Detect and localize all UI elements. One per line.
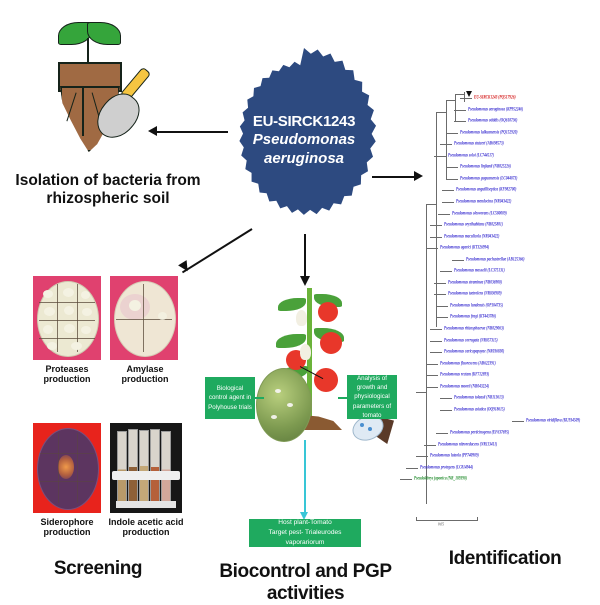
tree-tip-label: Pseudomonas linjianii (NR825226) — [460, 164, 511, 169]
tree-tip-label: Pseudomonas corrugata (NR057315) — [444, 337, 498, 342]
pest-magnifier-inset — [256, 368, 312, 442]
tree-terminal-branch — [442, 190, 454, 191]
hub-species: aeruginosa — [264, 150, 344, 168]
tree-terminal-branch — [434, 156, 446, 157]
tree-tip-label: Pseudomonas mosselii (LC375131) — [454, 268, 505, 273]
tree-tip-label: Pseudomonas fluorescens (AB622391) — [440, 360, 496, 365]
tree-terminal-branch — [440, 144, 452, 145]
target-pest-text: Target pest- Trialeurodes vaporariorum — [251, 528, 359, 548]
biocontrol-right-box: Analysis of growth and physiological par… — [347, 375, 397, 419]
amylase-label: Amylase production — [104, 364, 186, 384]
tree-terminal-branch — [430, 352, 442, 353]
tree-terminal-branch — [454, 121, 466, 122]
tree-tip-label: Pseudomonas rectam (KF712893) — [440, 371, 489, 376]
tree-tip-label: Pseudomonas protegens (LC814944) — [420, 464, 473, 469]
tomato-fruit — [318, 302, 338, 322]
tomato-flower — [300, 344, 311, 360]
tree-terminal-branch — [434, 294, 446, 295]
sample-dot — [368, 427, 372, 431]
tree-node-branch — [455, 94, 456, 122]
tree-tip-label: Pseudomonas straminea (NR036900) — [448, 279, 502, 284]
host-plant-text: Host plant-Tomato — [278, 518, 332, 528]
tube-rack — [112, 471, 180, 480]
tree-tip-label: Pseudomonas tolaasii (NR113613) — [454, 395, 504, 400]
colony-spot — [158, 312, 167, 320]
tree-tip-label: Pseudomonas aeruginosa (KP952246) — [468, 106, 523, 111]
arrow-to-screening-line — [182, 228, 253, 273]
tomato-fruit — [320, 332, 342, 354]
hub-strain-id: EU-SIRCK1243 — [253, 113, 355, 131]
tree-tip-label: Pseudomonas mendocina (NR043422) — [456, 198, 511, 203]
tree-tip-label: Pseudomonas agarici (KT326994) — [440, 244, 489, 249]
tree-tip-label: Pseudomonas oryzihabitans (NR825881) — [444, 221, 503, 226]
identification-caption: Identification — [430, 548, 580, 570]
whitefly-speck — [275, 389, 281, 393]
colony-spot — [63, 288, 74, 297]
iaa-label: Indole acetic acid production — [100, 517, 192, 537]
colony-spot — [82, 308, 92, 316]
tree-root-branch — [416, 392, 426, 393]
arrow-to-biocontrol-head — [300, 276, 310, 286]
tree-terminal-branch — [446, 179, 458, 180]
tree-terminal-branch — [436, 306, 448, 307]
arrow-to-screening-head — [178, 260, 192, 274]
sid-grid-v1 — [58, 433, 59, 503]
sid-grid-v2 — [77, 433, 78, 503]
tomato-fruit — [314, 368, 338, 392]
tree-tip-label: Pseudomonas guguanensis (LC044873) — [460, 175, 517, 180]
tree-tip-label: Pseudomonas moorii (NR043224) — [440, 383, 489, 388]
seedling-leaf-right — [87, 22, 121, 45]
colony-spot — [43, 290, 53, 298]
isolation-caption: Isolation of bacteria from rhizospheric … — [8, 172, 208, 208]
amylase-plate-photo — [110, 276, 178, 360]
tree-tip-label: Pseudomonas anguilliseptica (KF982700) — [456, 187, 516, 192]
tree-tip-label: Pseudomonas soloi (LC744517) — [448, 152, 494, 157]
biocontrol-left-connector — [255, 397, 264, 399]
tube — [139, 430, 149, 505]
whitefly-speck — [287, 403, 293, 407]
tube — [117, 431, 127, 505]
biocontrol-left-box: Biological control agent in Polyhouse tr… — [205, 377, 255, 419]
root-line-1 — [82, 86, 84, 136]
tree-tip-label: Pseudomonas taetrolens (NR036909) — [448, 291, 502, 296]
tree-tip-label: Pseudomonas lalkuanensis (PQ152920) — [460, 129, 518, 134]
tree-terminal-branch — [440, 398, 452, 399]
rack-base — [116, 501, 176, 508]
tree-scale-bar — [416, 520, 478, 521]
proteases-grid-v1 — [57, 284, 58, 352]
tree-terminal-branch — [426, 375, 438, 376]
proteases-label: Proteases production — [24, 364, 110, 384]
tree-tip-label: Pseudomonas lundensis (OP104735) — [450, 302, 503, 307]
tree-terminal-branch — [406, 468, 418, 469]
tree-node-branch — [464, 92, 465, 102]
tree-terminal-branch — [436, 433, 448, 434]
siderophore-halo — [58, 455, 74, 479]
amylase-grid-v — [143, 284, 144, 352]
proteases-label-line1: Proteases — [24, 364, 110, 374]
tree-terminal-branch — [512, 421, 524, 422]
tree-tip-label: Pseudomonas pachastrellae (AB125366) — [466, 256, 525, 261]
tree-terminal-branch — [438, 214, 450, 215]
central-organism-badge: EU-SIRCK1243 Pseudomonas aeruginosa — [228, 48, 380, 233]
tree-tip-label: Pseudomonas viridiflava (KU934509) — [526, 418, 580, 423]
tree-node-branch — [455, 94, 464, 95]
tree-terminal-branch — [440, 271, 452, 272]
tree-node-branch — [426, 204, 436, 205]
biocontrol-right-connector — [338, 397, 347, 399]
amylase-label-line1: Amylase — [104, 364, 186, 374]
biocontrol-down-arrow-line — [304, 440, 306, 514]
proteases-grid-h3 — [39, 338, 95, 339]
tree-terminal-branch — [430, 225, 442, 226]
iaa-label-line1: Indole acetic acid — [100, 517, 192, 527]
tree-terminal-branch — [452, 260, 464, 261]
tree-terminal-branch — [440, 410, 452, 411]
phylogenetic-tree: 0.05 EU-SIRCK1243 (PQ517926)Pseudomonas … — [408, 92, 600, 532]
colony-spot — [64, 306, 74, 315]
whitefly-speck — [271, 415, 277, 419]
tree-tip-label: Pseudomonas asiatica (OQ918615) — [454, 406, 505, 411]
siderophore-label: Siderophore production — [24, 517, 110, 537]
tomato-flower — [296, 310, 307, 326]
screening-caption: Screening — [38, 558, 158, 580]
tree-terminal-branch — [426, 364, 438, 365]
tree-terminal-branch — [442, 202, 454, 203]
siderophore-plate-photo — [33, 423, 101, 513]
tree-terminal-branch — [434, 283, 446, 284]
tree-tip-label: Pseudomonas oleovorans (LC580009) — [452, 210, 507, 215]
tree-terminal-branch — [426, 387, 438, 388]
siderophore-label-line1: Siderophore — [24, 517, 110, 527]
amylase-label-line2: production — [104, 374, 186, 384]
tree-terminal-branch — [460, 98, 472, 99]
tree-scale-tick-right — [477, 517, 478, 521]
iaa-label-line2: production — [100, 527, 192, 537]
colony-spot — [81, 326, 91, 334]
highlight-arrow-icon — [466, 91, 472, 97]
hub-genus: Pseudomonas — [253, 131, 356, 149]
tree-node-branch — [446, 100, 455, 101]
colony-spot — [129, 300, 141, 311]
tree-tip-label: Pseudomonas rhizosphaerae (NR829063) — [444, 325, 504, 330]
arrow-to-isolation-head — [148, 126, 157, 136]
isolation-caption-line2: rhizospheric soil — [8, 190, 208, 208]
tree-terminal-branch — [436, 317, 448, 318]
tree-tip-label: Pseudomonas perticinogena (EF637695) — [450, 429, 509, 434]
colony-spot — [64, 324, 75, 333]
colony-spot — [81, 291, 90, 299]
colony-spot — [43, 325, 53, 334]
colony-spot — [71, 342, 82, 350]
tree-tip-label: Pseudomonas fragi (KT443786) — [450, 314, 496, 319]
tree-terminal-branch — [430, 341, 442, 342]
proteases-plate-photo — [33, 276, 101, 360]
tree-terminal-branch — [430, 237, 442, 238]
tree-terminal-branch — [430, 329, 442, 330]
proteases-label-line2: production — [24, 374, 110, 384]
tree-tip-label: Pseudomonas luteola (PP740909) — [430, 452, 479, 457]
siderophore-label-line2: production — [24, 527, 110, 537]
isolation-illustration — [38, 20, 178, 165]
tree-tip-label: Pseudomonas caricapapayae (NR036830) — [444, 348, 504, 353]
arrow-to-biocontrol-line — [304, 234, 306, 282]
sid-grid-h2 — [40, 481, 94, 482]
tree-tip-label: Pseudomonas otitidis (OQ618736) — [468, 117, 517, 122]
arrow-to-isolation-line — [156, 131, 228, 133]
tube — [128, 429, 138, 505]
biocontrol-bottom-box: Host plant-Tomato Target pest- Trialeuro… — [249, 519, 361, 547]
tree-scale-label: 0.05 — [438, 521, 444, 526]
colony-spot — [44, 307, 55, 316]
proteases-grid-h1 — [39, 302, 95, 303]
tube — [150, 429, 160, 505]
isolation-caption-line1: Isolation of bacteria from — [8, 172, 208, 190]
tree-terminal-branch — [416, 456, 428, 457]
tube — [161, 431, 171, 505]
tree-tip-label: EU-SIRCK1243 (PQ517926) — [474, 94, 516, 99]
tree-terminal-branch — [426, 248, 438, 249]
sample-dot — [360, 423, 364, 427]
tree-tip-label: Pseudolabrys japonica (NR_189398) — [414, 475, 467, 480]
iaa-tubes-photo — [110, 423, 182, 513]
seedling-stem — [87, 38, 89, 64]
biocontrol-caption: Biocontrol and PGP activities — [198, 561, 413, 605]
tree-tip-label: Pseudomonas nitroreducens (NR113411) — [438, 441, 497, 446]
tree-terminal-branch — [446, 133, 458, 134]
tree-terminal-branch — [400, 479, 412, 480]
tree-terminal-branch — [424, 445, 436, 446]
tree-terminal-branch — [446, 167, 458, 168]
tree-terminal-branch — [454, 110, 466, 111]
sid-grid-h1 — [40, 453, 94, 454]
proteases-grid-h2 — [39, 320, 95, 321]
hub-text: EU-SIRCK1243 Pseudomonas aeruginosa — [228, 48, 380, 233]
tree-tip-label: Pseudomonas stutzeri (AB698573) — [454, 140, 504, 145]
tree-scale-tick-left — [416, 517, 417, 521]
tree-node-branch — [436, 112, 446, 113]
colony-spot — [47, 342, 57, 350]
tree-tip-label: Pseudomonas maculicola (NR043422) — [444, 233, 499, 238]
